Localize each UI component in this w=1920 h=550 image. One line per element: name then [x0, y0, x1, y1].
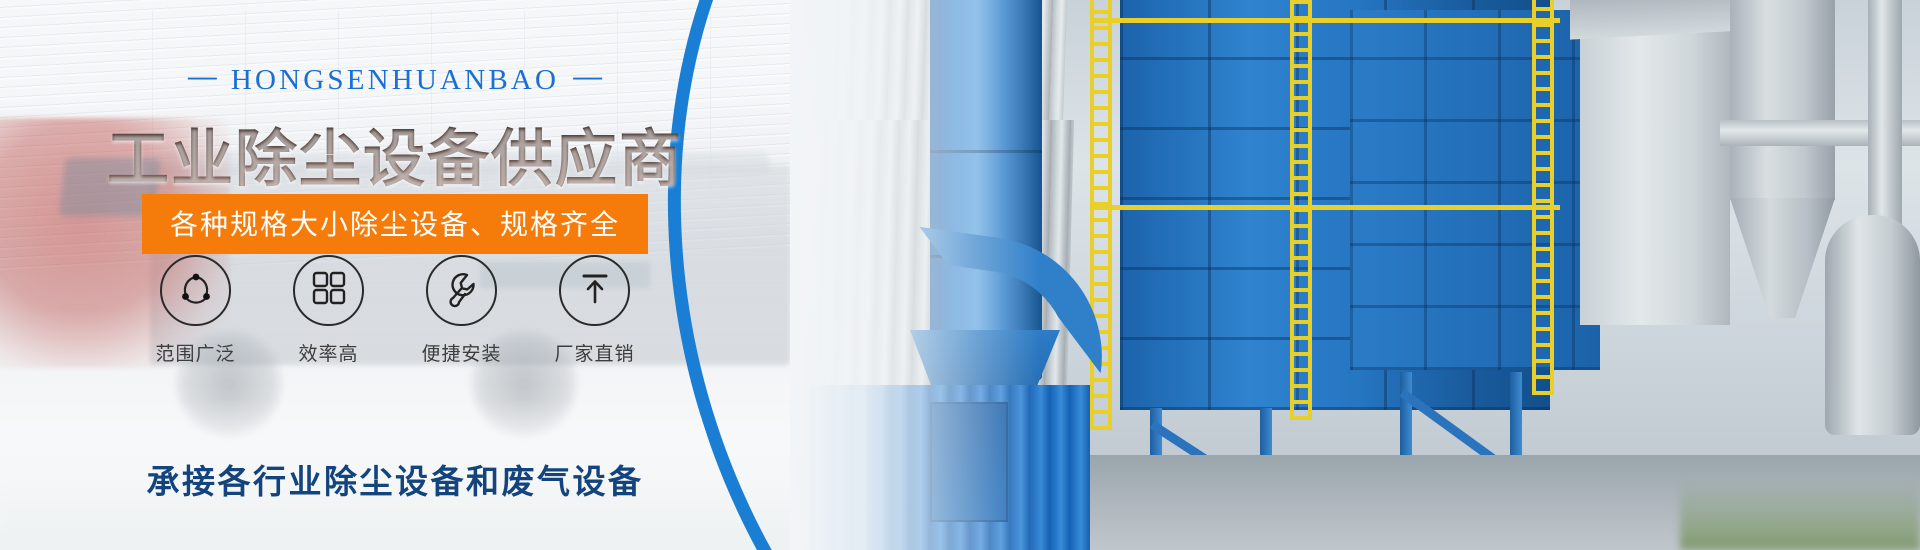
arrow-up-bar-icon — [576, 269, 614, 312]
photo-vertical-pipe — [1868, 0, 1902, 230]
feature-label: 厂家直销 — [552, 339, 638, 366]
photo-vegetation — [1680, 480, 1920, 550]
dust-collector-photo — [790, 0, 1920, 550]
network-share-icon — [176, 268, 216, 313]
hero-content: —HONGSENHUANBAO— 工业除尘设备供应商 各种规格大小除尘设备、规格… — [0, 0, 790, 550]
eyebrow-dash-right: — — [573, 61, 602, 94]
feature-icon-wrap — [160, 255, 231, 326]
photo-guard-rail — [1090, 205, 1560, 210]
page-title: 工业除尘设备供应商 — [0, 108, 790, 198]
photo-canvas — [790, 0, 1920, 550]
photo-access-ladder — [1532, 0, 1554, 395]
eyebrow-dash-left: — — [188, 61, 217, 94]
photo-cyclone-separator — [1730, 0, 1835, 200]
photo-left-fade-mask — [790, 0, 1040, 550]
photo-storage-tank — [1825, 215, 1920, 435]
feature-icon-wrap — [293, 255, 364, 326]
photo-grey-building — [1580, 0, 1730, 325]
brand-eyebrow: —HONGSENHUANBAO— — [0, 64, 790, 97]
feature-item-efficiency[interactable]: 效率高 — [286, 255, 372, 366]
feature-item-range[interactable]: 范围广泛 — [153, 255, 239, 366]
feature-label: 效率高 — [286, 339, 372, 366]
feature-item-factory-direct[interactable]: 厂家直销 — [552, 255, 638, 366]
feature-label: 范围广泛 — [153, 339, 239, 366]
hero-banner: —HONGSENHUANBAO— 工业除尘设备供应商 各种规格大小除尘设备、规格… — [0, 0, 1920, 550]
feature-item-install[interactable]: 便捷安装 — [419, 255, 505, 366]
feature-list: 范围广泛 效率高 — [0, 255, 790, 366]
photo-access-ladder — [1290, 0, 1312, 420]
feature-label: 便捷安装 — [419, 339, 505, 366]
grid-four-squares-icon — [310, 269, 348, 312]
hero-tagline: 承接各行业除尘设备和废气设备 — [0, 455, 790, 503]
status-badge: 各种规格大小除尘设备、规格齐全 — [142, 194, 648, 254]
eyebrow-text: HONGSENHUANBAO — [231, 64, 559, 96]
photo-guard-rail — [1090, 18, 1560, 23]
wrench-icon — [442, 268, 482, 313]
feature-icon-wrap — [426, 255, 497, 326]
feature-icon-wrap — [559, 255, 630, 326]
photo-baghouse-unit-secondary — [1350, 10, 1600, 370]
